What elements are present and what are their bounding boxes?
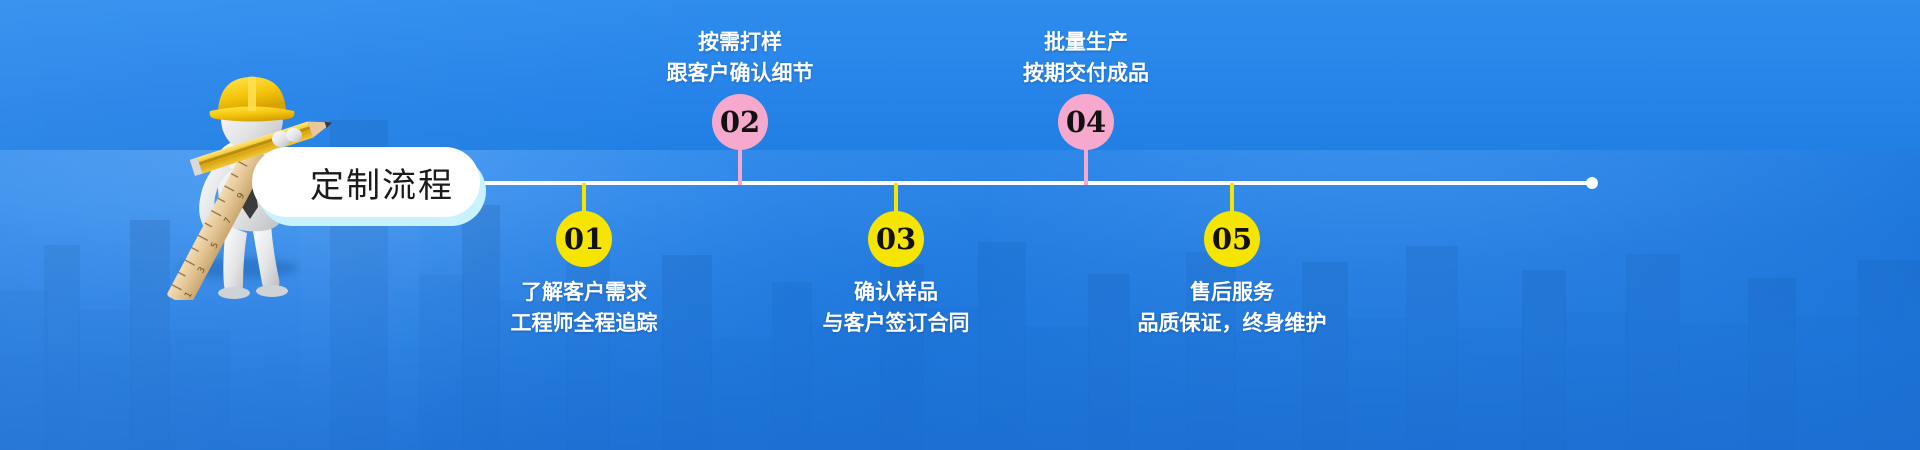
step-04-label: 批量生产 按期交付成品 xyxy=(936,27,1236,89)
step-03-line1: 确认样品 xyxy=(746,277,1046,308)
step-05-number: 05 xyxy=(1212,222,1252,256)
step-04-line2: 按期交付成品 xyxy=(936,58,1236,89)
step-03-number: 03 xyxy=(876,222,916,256)
step-03-badge[interactable]: 03 xyxy=(868,211,924,267)
step-04-number: 04 xyxy=(1066,105,1106,139)
step-03-line2: 与客户签订合同 xyxy=(746,308,1046,339)
step-04-stem xyxy=(1084,148,1088,185)
step-01-badge[interactable]: 01 xyxy=(556,211,612,267)
timeline-axis xyxy=(470,181,1595,185)
step-03-label: 确认样品 与客户签订合同 xyxy=(746,277,1046,339)
step-04-line1: 批量生产 xyxy=(936,27,1236,58)
step-02-number: 02 xyxy=(720,105,760,139)
banner-root: 1 3 5 7 9 定制流程 xyxy=(0,0,1920,450)
step-01-label: 了解客户需求 工程师全程追踪 xyxy=(434,277,734,339)
step-05-label: 售后服务 品质保证，终身维护 xyxy=(1082,277,1382,339)
step-02-line1: 按需打样 xyxy=(590,27,890,58)
step-05-line1: 售后服务 xyxy=(1082,277,1382,308)
step-04-badge[interactable]: 04 xyxy=(1058,94,1114,150)
step-01-line2: 工程师全程追踪 xyxy=(434,308,734,339)
step-02-label: 按需打样 跟客户确认细节 xyxy=(590,27,890,89)
step-01-line1: 了解客户需求 xyxy=(434,277,734,308)
step-02-line2: 跟客户确认细节 xyxy=(590,58,890,89)
step-02-badge[interactable]: 02 xyxy=(712,94,768,150)
page-title: 定制流程 xyxy=(310,158,454,207)
title-pill: 定制流程 xyxy=(252,147,480,217)
step-02-stem xyxy=(738,148,742,185)
step-05-badge[interactable]: 05 xyxy=(1204,211,1260,267)
step-01-number: 01 xyxy=(564,222,604,256)
step-05-line2: 品质保证，终身维护 xyxy=(1082,308,1382,339)
timeline-end-dot xyxy=(1586,177,1598,189)
